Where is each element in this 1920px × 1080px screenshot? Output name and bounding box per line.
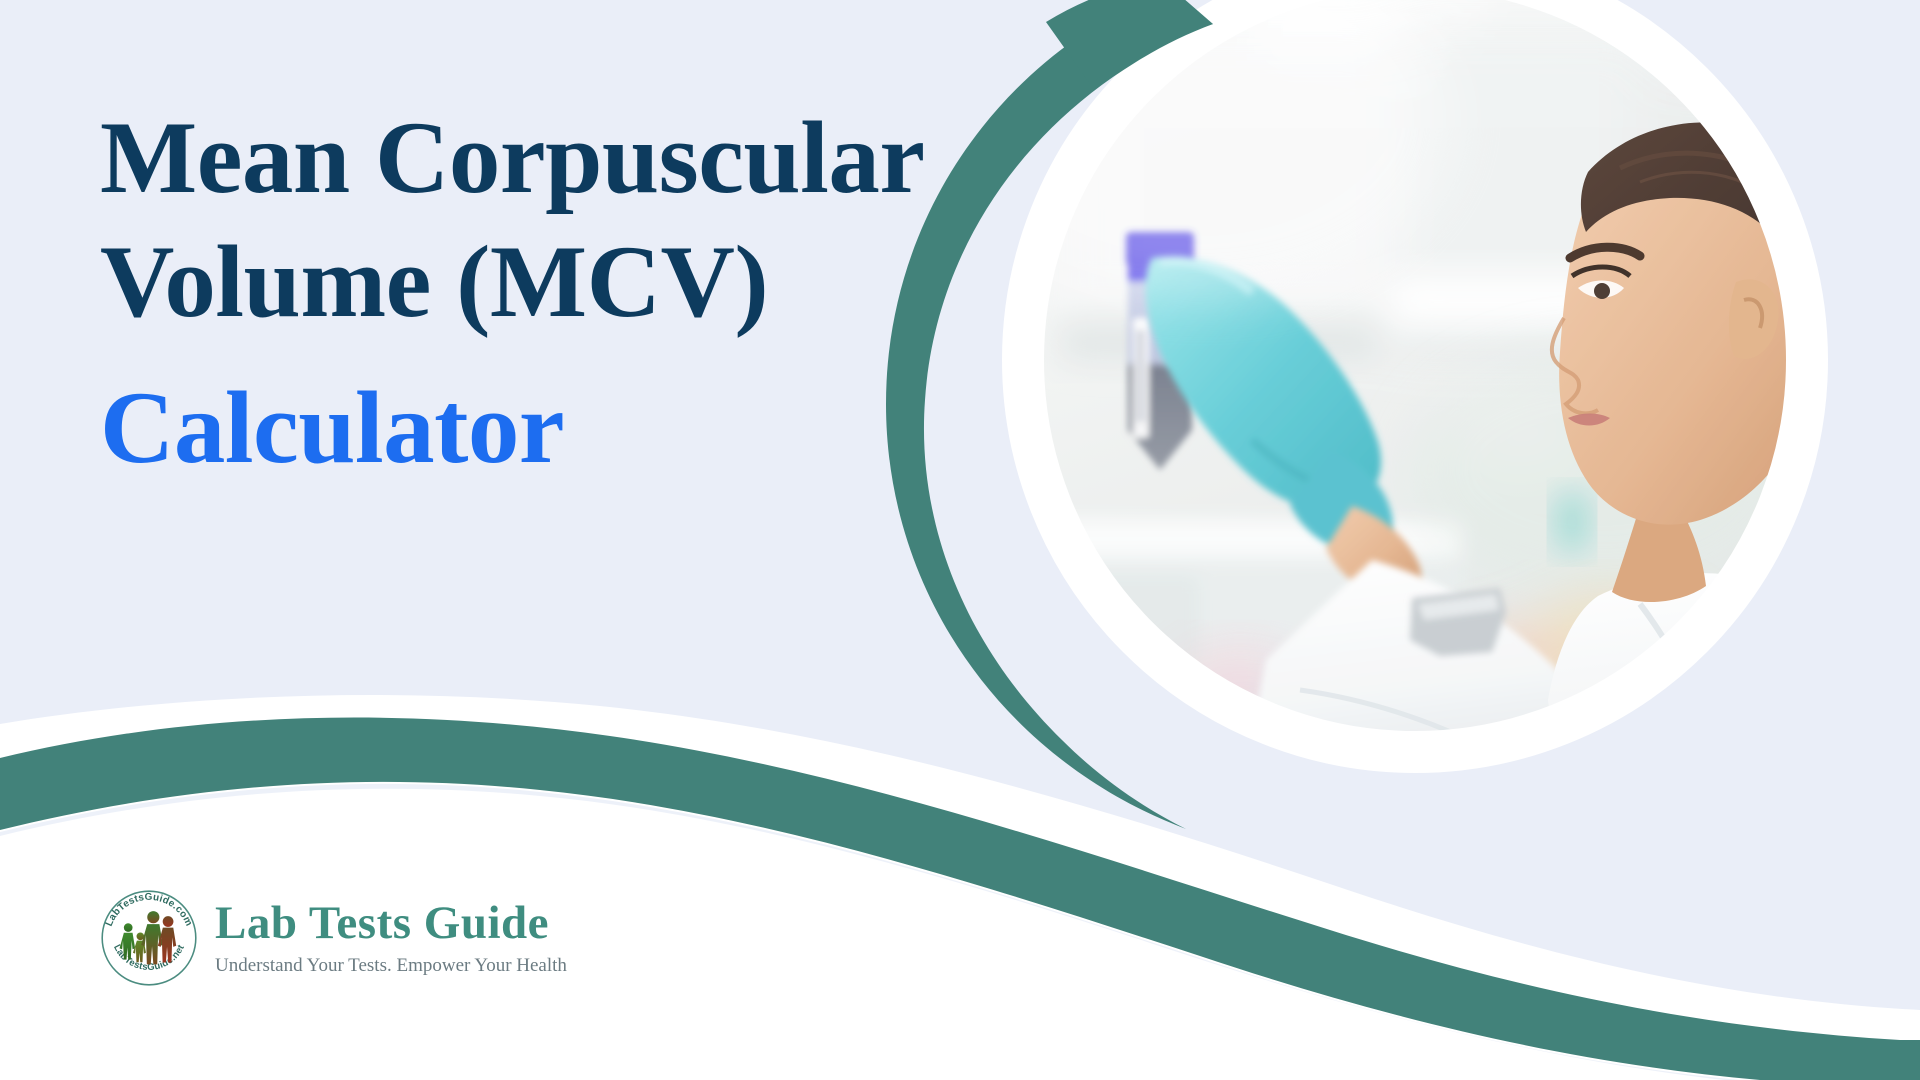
brand-text: Lab Tests Guide Understand Your Tests. E… xyxy=(215,897,567,979)
mcv-calculator-banner: Mean Corpuscular Volume (MCV) Calculator xyxy=(0,0,1920,1080)
labtestsguide-badge-icon: LabTestsGuide.com LabTestsGuide.net xyxy=(97,886,201,990)
brand-tagline: Understand Your Tests. Empower Your Heal… xyxy=(215,953,567,979)
brand-name: Lab Tests Guide xyxy=(215,897,567,949)
title-line-2: Volume (MCV) xyxy=(100,220,1100,344)
brand-logo[interactable]: LabTestsGuide.com LabTestsGuide.net xyxy=(97,886,567,990)
page-title: Mean Corpuscular Volume (MCV) Calculator xyxy=(100,96,1100,490)
title-accent-line: Calculator xyxy=(100,366,1100,490)
title-line-1: Mean Corpuscular xyxy=(100,96,1100,220)
